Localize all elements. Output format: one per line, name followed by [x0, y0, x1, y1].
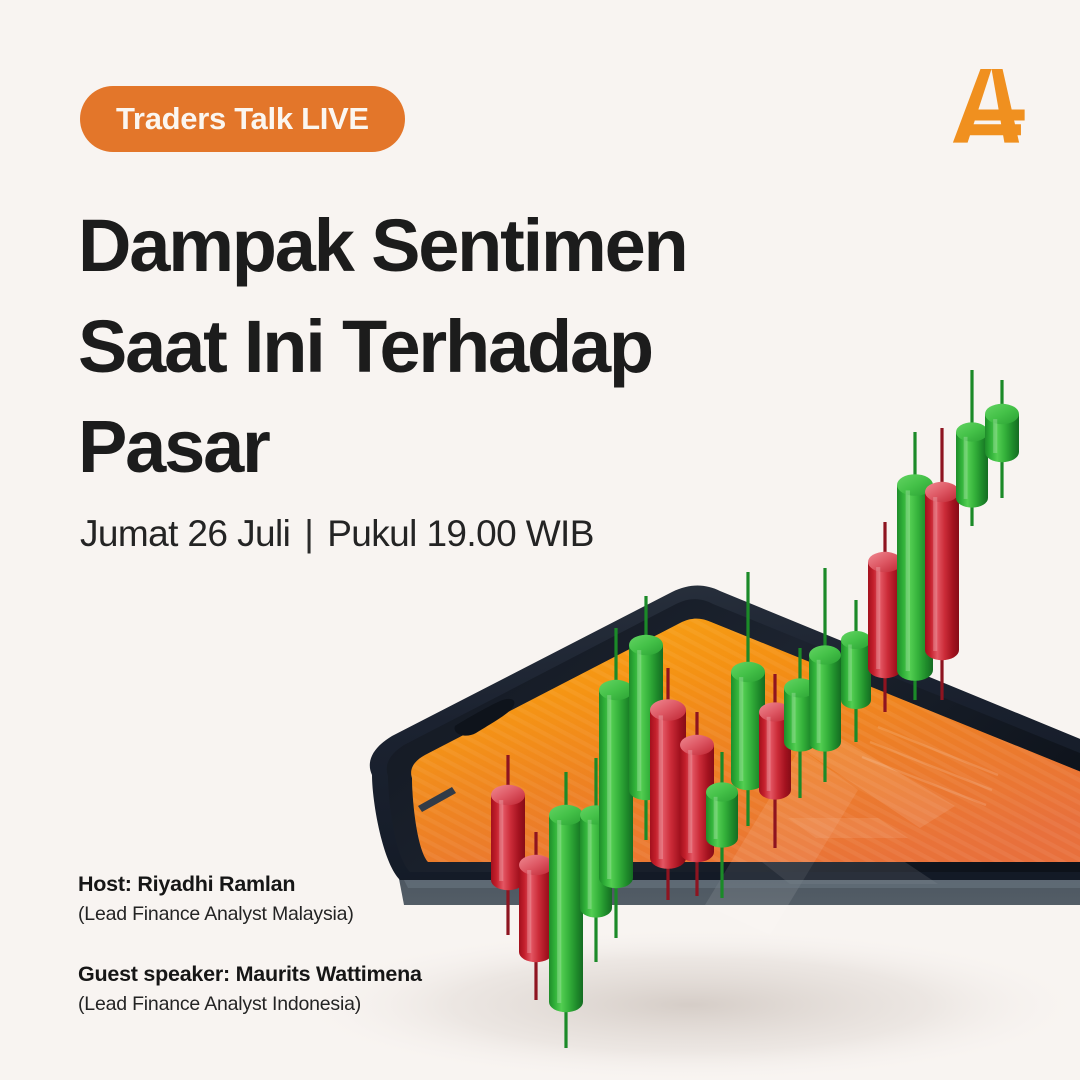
- schedule-time: Pukul 19.00 WIB: [327, 513, 594, 555]
- credit-host-name: Host: Riyadhi Ramlan: [78, 868, 548, 900]
- live-badge-label: Traders Talk LIVE: [116, 101, 369, 137]
- avatrade-a-logo-icon: [940, 58, 1032, 150]
- schedule-line: Jumat 26 Juli | Pukul 19.00 WIB: [80, 513, 594, 555]
- credit-guest-role: (Lead Finance Analyst Indonesia): [78, 990, 548, 1019]
- headline-line-1: Dampak Sentimen: [78, 196, 838, 297]
- headline-line-2: Saat Ini Terhadap: [78, 297, 838, 398]
- promo-poster: Traders Talk LIVE Dampak Sentimen Saat I…: [0, 0, 1080, 1080]
- credit-guest-name: Guest speaker: Maurits Wattimena: [78, 958, 548, 990]
- credit-host: Host: Riyadhi Ramlan (Lead Finance Analy…: [78, 868, 548, 930]
- brand-logo: [940, 58, 1032, 150]
- credit-host-role: (Lead Finance Analyst Malaysia): [78, 900, 548, 929]
- page-title: Dampak Sentimen Saat Ini Terhadap Pasar: [78, 196, 838, 498]
- schedule-separator: |: [304, 513, 313, 555]
- live-badge: Traders Talk LIVE: [80, 86, 405, 152]
- headline-line-3: Pasar: [78, 397, 838, 498]
- credit-guest: Guest speaker: Maurits Wattimena (Lead F…: [78, 958, 548, 1020]
- credits-block: Host: Riyadhi Ramlan (Lead Finance Analy…: [78, 868, 548, 1019]
- schedule-date: Jumat 26 Juli: [80, 513, 290, 555]
